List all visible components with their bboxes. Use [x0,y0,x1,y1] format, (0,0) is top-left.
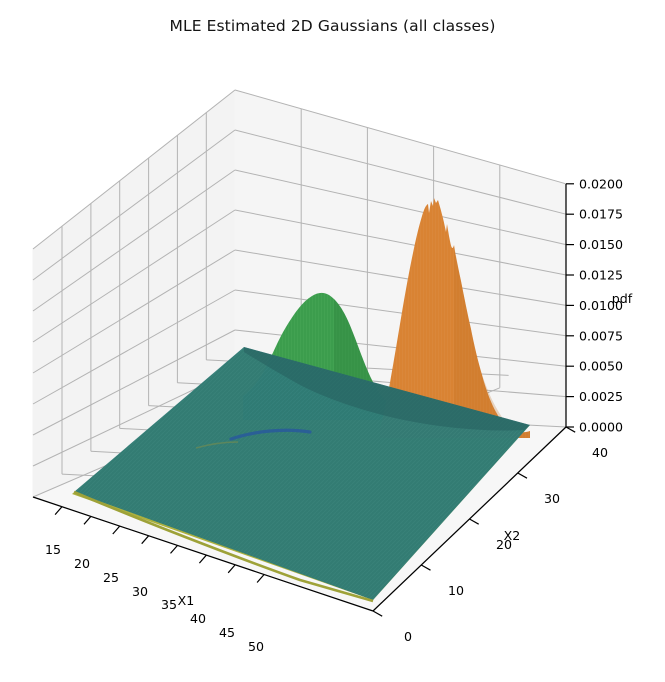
x1-tick-label: 35 [161,597,177,612]
axis-label-pdf: pdf [612,291,633,306]
axis-label-x1: X1 [178,593,195,608]
z-tick-label: 0.0075 [579,328,623,343]
axis-label-x2: X2 [504,528,521,543]
plot-svg: 15 20 25 30 35 40 45 50 0 10 20 30 40 0.… [0,0,665,682]
x2-tick-label: 0 [404,629,412,644]
z-tick-label: 0.0025 [579,389,623,404]
x1-tick-label: 15 [45,542,61,557]
z-tick-label: 0.0000 [579,420,623,435]
x2-tick-label: 30 [544,491,560,506]
x2-tick-label: 40 [592,445,608,460]
z-tick-label: 0.0050 [579,359,623,374]
x1-tick-label: 20 [74,556,90,571]
plot-canvas: 15 20 25 30 35 40 45 50 0 10 20 30 40 0.… [0,0,665,682]
x1-tick-label: 25 [103,570,119,585]
z-ticks [566,184,574,427]
x1-tick-label: 45 [219,625,235,640]
z-tick-label: 0.0125 [579,268,623,283]
x2-tick-label: 10 [448,583,464,598]
figure-3d-surface-plot: MLE Estimated 2D Gaussians (all classes) [0,0,665,682]
z-tick-label: 0.0175 [579,207,623,222]
z-tick-label: 0.0200 [579,176,623,191]
x1-tick-label: 30 [132,584,148,599]
x1-tick-label: 50 [248,639,264,654]
z-tick-label: 0.0150 [579,237,623,252]
x1-tick-label: 40 [190,611,206,626]
